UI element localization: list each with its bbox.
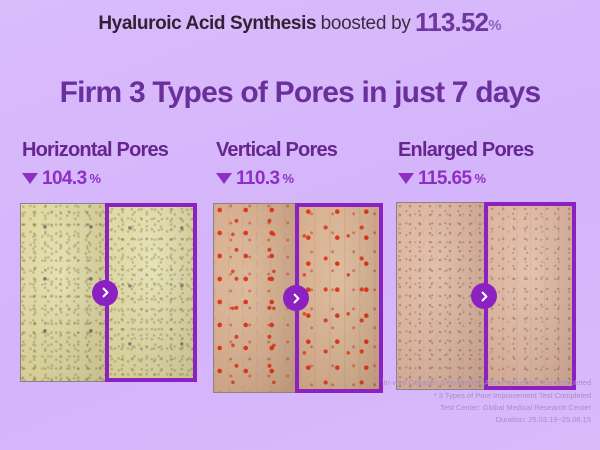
column-value: 104.3% bbox=[22, 169, 168, 188]
headline-light: boosted by bbox=[321, 13, 411, 34]
chevron-right-icon bbox=[283, 285, 309, 311]
headline-number: 113.52 bbox=[415, 7, 488, 37]
comparison-pair-horizontal bbox=[20, 203, 197, 382]
column-title: Enlarged Pores bbox=[398, 140, 534, 160]
comparison-pair-vertical bbox=[213, 203, 383, 393]
chevron-right-icon bbox=[471, 283, 497, 309]
column-horizontal-pores: Horizontal Pores 104.3% bbox=[22, 140, 168, 188]
after-image-horizontal bbox=[105, 203, 197, 382]
down-triangle-icon bbox=[398, 173, 414, 184]
column-value-number: 115.65 bbox=[418, 169, 471, 188]
footnote: 'In-vitro Collagen & Hyaluronic Acid Pro… bbox=[382, 377, 591, 426]
footnote-line-2: * 3 Types of Pore Improvement Test Compl… bbox=[382, 390, 591, 402]
column-value-percent: % bbox=[474, 172, 485, 185]
column-value: 110.3% bbox=[216, 169, 337, 188]
down-triangle-icon bbox=[216, 173, 232, 184]
column-enlarged-pores: Enlarged Pores 115.65% bbox=[398, 140, 534, 188]
promo-banner: Hyaluroic Acid Synthesis boosted by 113.… bbox=[0, 0, 600, 450]
column-value-number: 110.3 bbox=[236, 169, 280, 188]
headline-strong: Hyaluroic Acid Synthesis bbox=[98, 13, 316, 34]
skin-texture-after bbox=[488, 206, 572, 386]
skin-texture-after bbox=[109, 207, 193, 378]
after-image-enlarged bbox=[484, 202, 576, 390]
column-value-percent: % bbox=[90, 172, 101, 185]
footnote-line-4: Duration: 25.03.19~25.06.15 bbox=[382, 414, 591, 426]
column-title: Horizontal Pores bbox=[22, 140, 168, 160]
chevron-right-icon bbox=[92, 280, 118, 306]
comparison-pair-enlarged bbox=[396, 202, 576, 390]
skin-texture-after bbox=[299, 207, 379, 389]
footnote-line-3: Test Center: Global Medical Research Cen… bbox=[382, 402, 591, 414]
headline-percent: % bbox=[488, 17, 501, 34]
column-title: Vertical Pores bbox=[216, 140, 337, 160]
column-vertical-pores: Vertical Pores 110.3% bbox=[216, 140, 337, 188]
page-title: Firm 3 Types of Pores in just 7 days bbox=[0, 76, 600, 109]
column-value: 115.65% bbox=[398, 169, 534, 188]
column-value-number: 104.3 bbox=[42, 169, 87, 188]
down-triangle-icon bbox=[22, 173, 38, 184]
footnote-line-1: 'In-vitro Collagen & Hyaluronic Acid Pro… bbox=[382, 377, 591, 389]
column-value-percent: % bbox=[283, 172, 294, 185]
headline: Hyaluroic Acid Synthesis boosted by 113.… bbox=[0, 9, 600, 35]
